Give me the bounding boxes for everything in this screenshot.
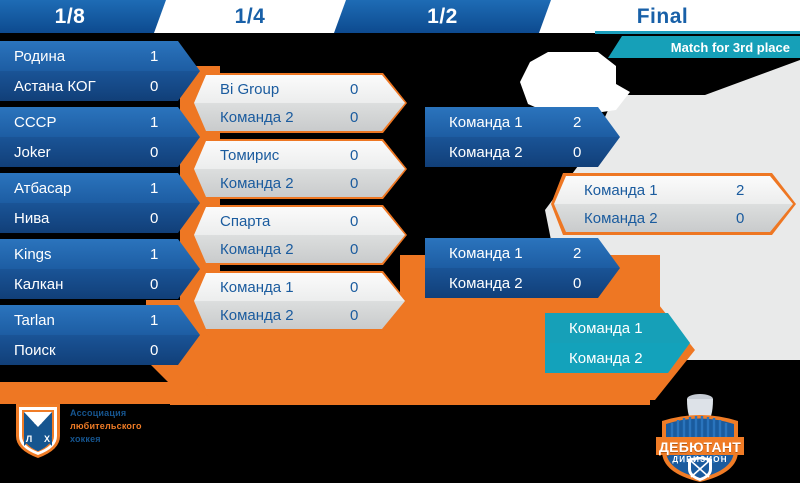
ala-hockey-shield-logo: А Л Х Ассоциация любительского хоккея (14, 400, 194, 464)
team-score: 0 (736, 210, 744, 227)
tournament-bracket: 1/8 1/4 1/2 Final Match for 3rd place Ро… (0, 0, 800, 483)
match-final-faces: Команда 1 2 Команда 2 0 (554, 176, 793, 232)
team-name: Команда 1 (220, 279, 294, 296)
team-score: 2 (573, 114, 581, 131)
team-name: Астана КОГ (14, 78, 96, 95)
team-score: 0 (350, 109, 358, 126)
team-name: Tarlan (14, 312, 55, 329)
team-score: 0 (350, 81, 358, 98)
match-quarter-1[interactable]: Bi Group 0 Команда 2 0 (192, 73, 407, 133)
team-name: Команда 1 (584, 182, 658, 199)
match-r16-5-home: Tarlan 1 (0, 305, 200, 335)
shield-monogram-left: Л (26, 434, 32, 444)
match-quarter-4[interactable]: Команда 1 0 Команда 2 0 (192, 271, 407, 331)
match-r16-1-away: Астана КОГ 0 (0, 71, 200, 101)
match-quarter-1-home: Bi Group 0 (194, 75, 405, 103)
team-name: СССР (14, 114, 57, 131)
match-final-away: Команда 2 0 (554, 204, 793, 232)
match-r16-3-home: Атбасар 1 (0, 173, 200, 203)
team-name: Поиск (14, 342, 56, 359)
team-score: 1 (150, 114, 158, 131)
team-score: 0 (150, 276, 158, 293)
match-quarter-1-away: Команда 2 0 (194, 103, 405, 131)
shield-icon: А Л Х (14, 402, 62, 460)
team-name: Команда 2 (220, 109, 294, 126)
team-name: Родина (14, 48, 65, 65)
match-r16-2[interactable]: СССР 1 Joker 0 (0, 107, 200, 167)
match-quarter-3-away: Команда 2 0 (194, 235, 405, 263)
team-score: 0 (350, 307, 358, 324)
match-semi-2-home: Команда 1 2 (425, 238, 620, 268)
team-score: 0 (573, 144, 581, 161)
team-score: 0 (150, 342, 158, 359)
team-name: Калкан (14, 276, 63, 293)
team-score: 1 (150, 312, 158, 329)
match-r16-4-away: Калкан 0 (0, 269, 200, 299)
match-semi-1-away: Команда 2 0 (425, 137, 620, 167)
round-tab-r16-label: 1/8 (55, 5, 86, 29)
match-quarter-3-faces: Спарта 0 Команда 2 0 (194, 207, 405, 263)
third-place-banner: Match for 3rd place (608, 36, 800, 58)
match-quarter-3[interactable]: Спарта 0 Команда 2 0 (192, 205, 407, 265)
team-score: 0 (150, 210, 158, 227)
team-name: Нива (14, 210, 49, 227)
round-tab-quarter-label: 1/4 (235, 5, 266, 29)
match-quarter-4-home: Команда 1 0 (194, 273, 405, 301)
team-score: 0 (150, 78, 158, 95)
team-name: Bi Group (220, 81, 279, 98)
team-name: Атбасар (14, 180, 71, 197)
team-score: 2 (573, 245, 581, 262)
match-r16-5[interactable]: Tarlan 1 Поиск 0 (0, 305, 200, 365)
match-quarter-4-away: Команда 2 0 (194, 301, 405, 329)
team-name: Спарта (220, 213, 270, 230)
match-semi-2[interactable]: Команда 1 2 Команда 2 0 (425, 238, 620, 298)
round-tab-quarter[interactable]: 1/4 (160, 0, 340, 33)
team-name: Команда 2 (449, 275, 523, 292)
team-score: 0 (350, 175, 358, 192)
team-score: 0 (350, 279, 358, 296)
ala-logo-line3: хоккея (70, 434, 101, 444)
match-r16-4[interactable]: Kings 1 Калкан 0 (0, 239, 200, 299)
team-score: 0 (350, 241, 358, 258)
shield-monogram-top: А (34, 416, 41, 427)
team-score: 2 (736, 182, 744, 199)
match-quarter-1-faces: Bi Group 0 Команда 2 0 (194, 75, 405, 131)
round-tab-semi[interactable]: 1/2 (340, 0, 545, 33)
team-score: 1 (150, 180, 158, 197)
trophy-icon (648, 393, 752, 483)
match-third-place-away: Команда 2 0 (545, 343, 690, 373)
match-semi-1[interactable]: Команда 1 2 Команда 2 0 (425, 107, 620, 167)
match-quarter-2-faces: Томирис 0 Команда 2 0 (194, 141, 405, 197)
team-name: Команда 1 (449, 114, 523, 131)
round-tab-r16[interactable]: 1/8 (0, 0, 160, 33)
team-name: Команда 1 (569, 320, 643, 337)
team-score: 0 (573, 275, 581, 292)
match-quarter-2-away: Команда 2 0 (194, 169, 405, 197)
round-tab-final-label: Final (637, 5, 689, 29)
round-tab-semi-label: 1/2 (427, 5, 458, 29)
round-header-bar: 1/8 1/4 1/2 Final (0, 0, 800, 33)
match-r16-1-home: Родина 1 (0, 41, 200, 71)
match-third-place-home: Команда 1 2 (545, 313, 690, 343)
ala-logo-line2: любительского (70, 421, 142, 431)
match-quarter-3-home: Спарта 0 (194, 207, 405, 235)
match-r16-5-away: Поиск 0 (0, 335, 200, 365)
team-name: Команда 2 (449, 144, 523, 161)
match-r16-2-home: СССР 1 (0, 107, 200, 137)
match-quarter-4-faces: Команда 1 0 Команда 2 0 (194, 273, 405, 329)
team-name: Команда 2 (220, 175, 294, 192)
team-score: 1 (150, 246, 158, 263)
team-score: 1 (150, 48, 158, 65)
match-third-place[interactable]: Команда 1 2 Команда 2 0 (545, 313, 690, 373)
debutant-division-logo: ДЕБЮТАНТ ДИВИЗИОН (648, 393, 752, 483)
match-r16-2-away: Joker 0 (0, 137, 200, 167)
team-name: Команда 2 (220, 307, 294, 324)
match-r16-3[interactable]: Атбасар 1 Нива 0 (0, 173, 200, 233)
ala-logo-line1: Ассоциация (70, 408, 126, 418)
team-name: Команда 2 (584, 210, 658, 227)
team-name: Томирис (220, 147, 279, 164)
match-final[interactable]: Команда 1 2 Команда 2 0 (551, 173, 796, 235)
round-tab-final[interactable]: Final (545, 0, 800, 33)
team-name: Joker (14, 144, 51, 161)
match-r16-4-home: Kings 1 (0, 239, 200, 269)
final-tab-underline (595, 31, 800, 34)
match-r16-3-away: Нива 0 (0, 203, 200, 233)
match-quarter-2-home: Томирис 0 (194, 141, 405, 169)
match-final-home: Команда 1 2 (554, 176, 793, 204)
team-name: Команда 2 (569, 350, 643, 367)
shield-monogram-right: Х (44, 434, 50, 444)
team-score: 0 (150, 144, 158, 161)
debutant-logo-title: ДЕБЮТАНТ (648, 439, 752, 455)
third-place-banner-label: Match for 3rd place (671, 40, 790, 55)
match-semi-1-home: Команда 1 2 (425, 107, 620, 137)
match-quarter-2[interactable]: Томирис 0 Команда 2 0 (192, 139, 407, 199)
debutant-logo-subtitle: ДИВИЗИОН (648, 455, 752, 464)
team-name: Команда 2 (220, 241, 294, 258)
match-semi-2-away: Команда 2 0 (425, 268, 620, 298)
match-r16-1[interactable]: Родина 1 Астана КОГ 0 (0, 41, 200, 101)
team-name: Kings (14, 246, 52, 263)
team-name: Команда 1 (449, 245, 523, 262)
team-score: 0 (350, 147, 358, 164)
team-score: 0 (350, 213, 358, 230)
